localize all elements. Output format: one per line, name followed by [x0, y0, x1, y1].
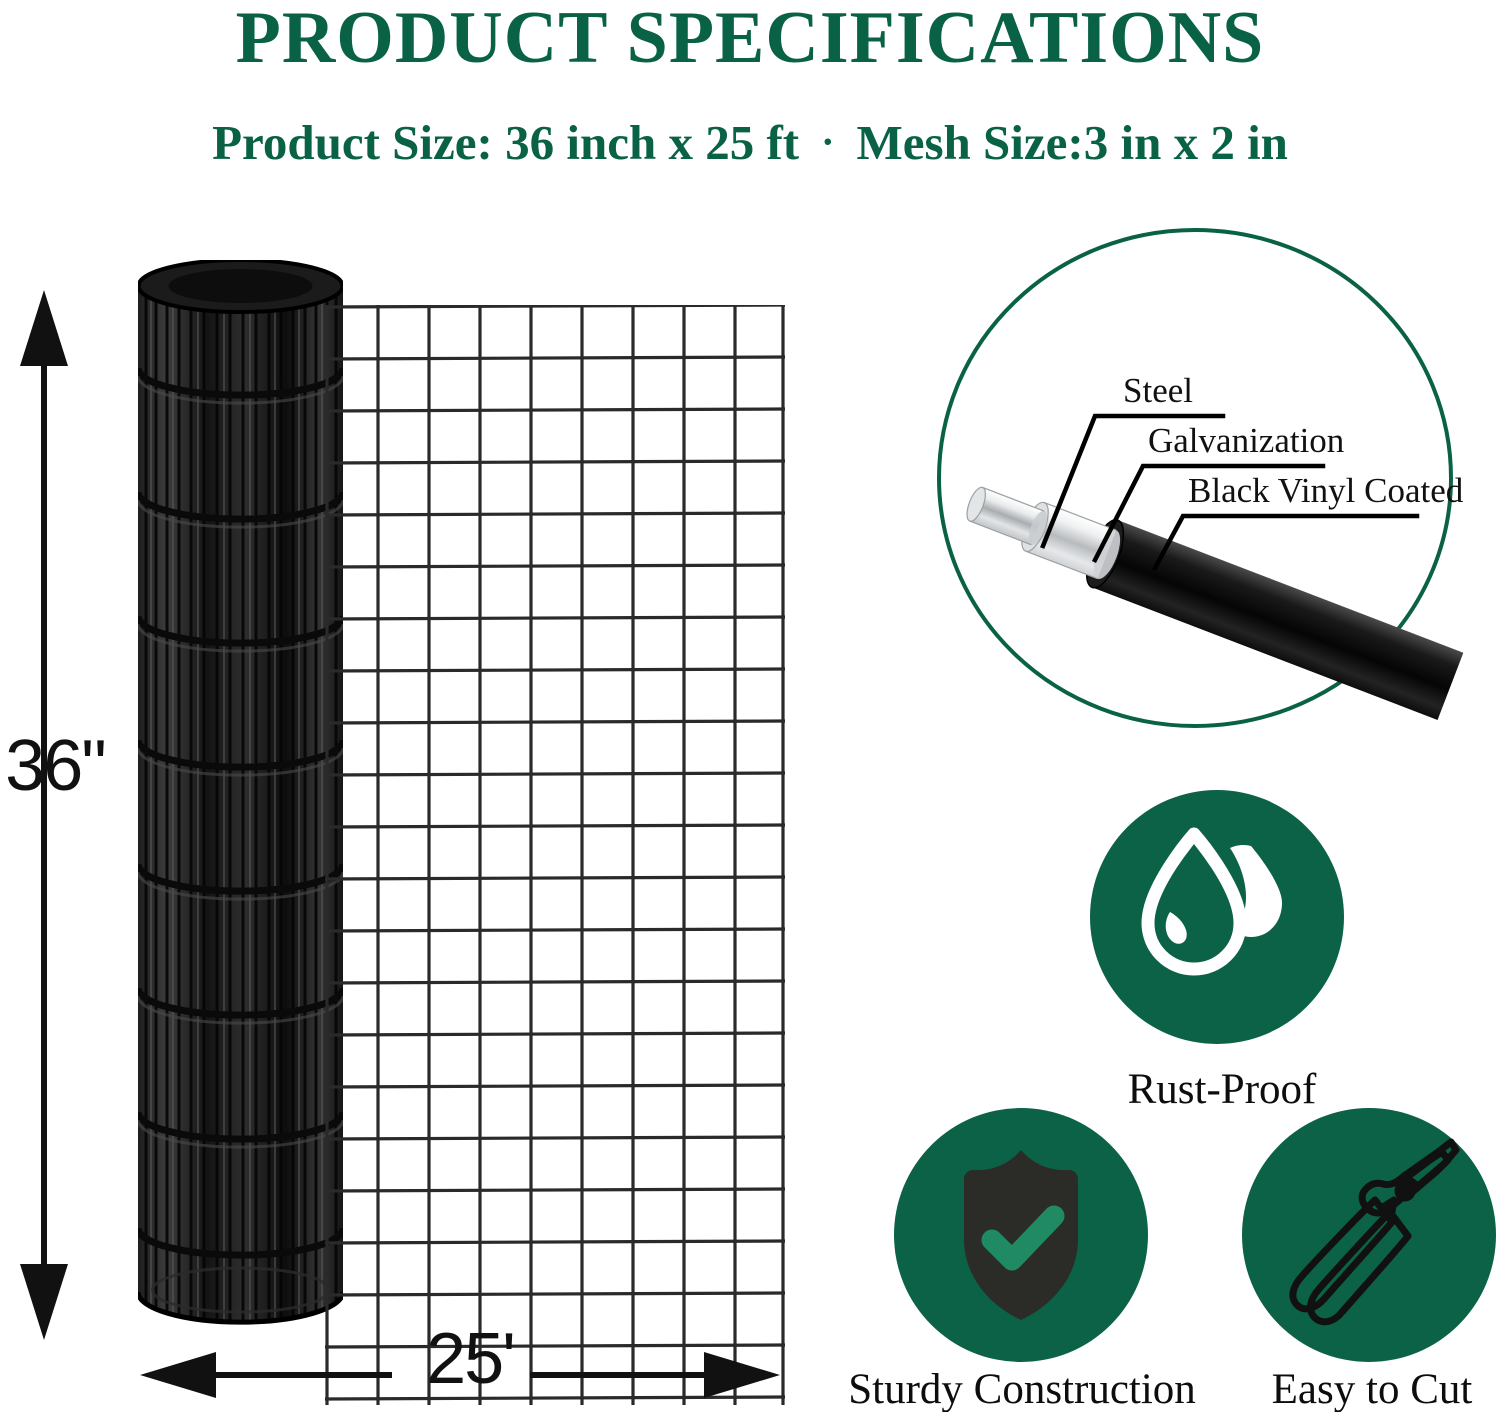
height-dimension-arrow	[14, 290, 74, 1340]
callout-label-black-vinyl: Black Vinyl Coated	[1188, 471, 1464, 510]
callout-label-steel: Steel	[1123, 371, 1193, 410]
fence-roll-image	[138, 260, 343, 1325]
spec-summary-row: Product Size: 36 inch x 25 ft·Mesh Size:…	[0, 114, 1500, 171]
water-drop-icon	[1090, 790, 1344, 1044]
spec-separator: ·	[799, 118, 856, 165]
badge-label: Rust-Proof	[1032, 1065, 1412, 1114]
product-size-text: Product Size: 36 inch x 25 ft	[212, 115, 799, 170]
pliers-icon	[1242, 1108, 1496, 1362]
wire-mesh-sheet	[325, 305, 785, 1412]
badge-label: Easy to Cut	[1212, 1365, 1500, 1412]
product-illustration: 36"	[0, 220, 830, 1412]
callout-label-galvanization: Galvanization	[1148, 421, 1344, 460]
shield-check-icon	[894, 1108, 1148, 1362]
feature-badge-rust-proof: Rust-Proof	[1072, 790, 1362, 1110]
badge-label: Sturdy Construction	[817, 1365, 1227, 1412]
feature-badge-sturdy-construction: Sturdy Construction	[872, 1108, 1172, 1412]
page-title: PRODUCT SPECIFICATIONS	[0, 0, 1500, 81]
wire-construction-diagram: Steel Galvanization Black Vinyl Coated	[905, 228, 1485, 728]
product-specifications-infographic: PRODUCT SPECIFICATIONS Product Size: 36 …	[0, 0, 1500, 1412]
width-dimension-label: 25'	[400, 1318, 540, 1400]
height-dimension-label: 36"	[0, 725, 120, 807]
mesh-size-text: Mesh Size:3 in x 2 in	[856, 115, 1287, 170]
feature-badge-easy-to-cut: Easy to Cut	[1242, 1108, 1496, 1412]
